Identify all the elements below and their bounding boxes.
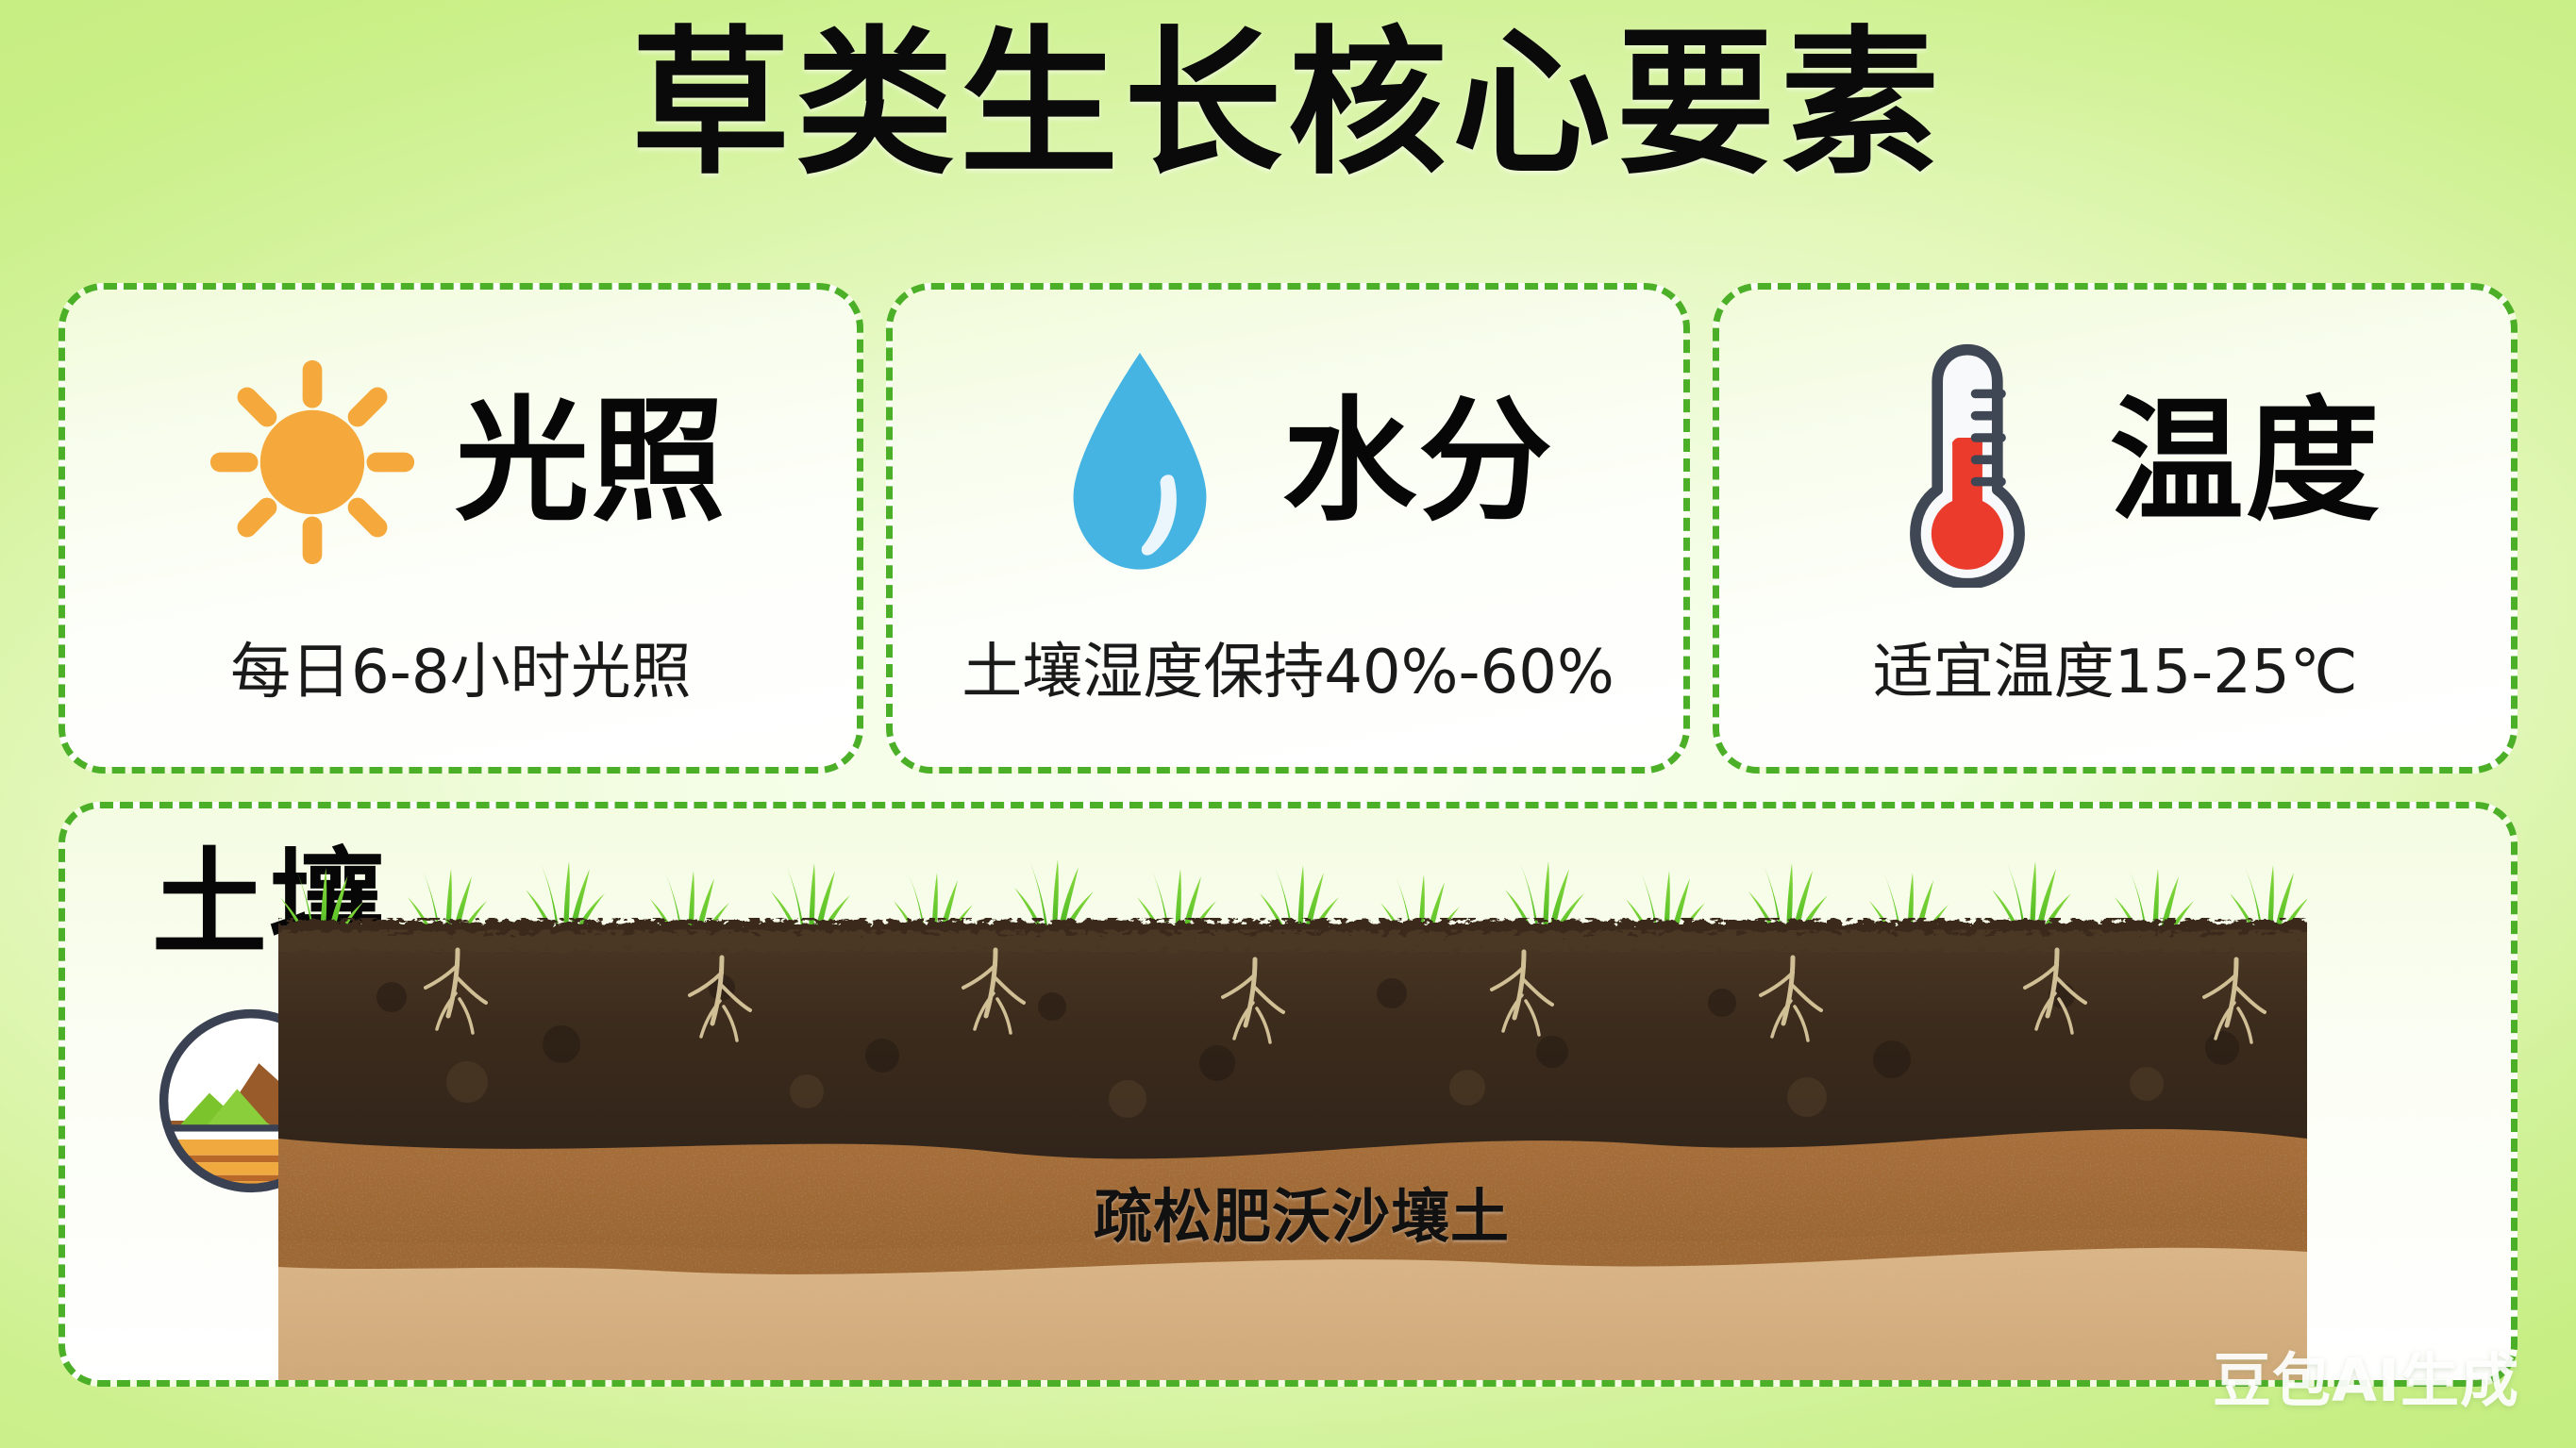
factor-card-temperature[interactable]: 温度 适宜温度15-25℃ (1713, 283, 2517, 774)
card-title-temperature: 温度 (2110, 395, 2382, 529)
card-desc-water: 土壤湿度保持40%-60% (962, 624, 1614, 710)
card-head: 光照 (75, 307, 847, 618)
soil-crosssection-illustration (278, 808, 2307, 1387)
sun-icon (194, 335, 430, 590)
soil-caption: 疏松肥沃沙壤土 (1094, 1169, 1510, 1254)
soil-panel[interactable]: 土壤 (59, 802, 2517, 1387)
card-head: 水分 (902, 307, 1675, 618)
card-head: 温度 (1729, 307, 2501, 618)
factor-cards-row: 光照 每日6-8小时光照 水分 土壤湿度保持40%-60% (59, 283, 2517, 774)
card-desc-temperature: 适宜温度15-25℃ (1873, 624, 2358, 710)
card-desc-light: 每日6-8小时光照 (230, 624, 692, 710)
card-title-water: 水分 (1282, 395, 1554, 529)
card-title-light: 光照 (455, 395, 727, 529)
soil-layer-topsoil (278, 920, 2307, 1158)
thermometer-icon (1849, 335, 2085, 590)
watermark: 豆包AI生成 (2213, 1333, 2519, 1418)
page-title: 草类生长核心要素 (0, 8, 2576, 201)
water-drop-icon (1022, 335, 1258, 590)
factor-card-light[interactable]: 光照 每日6-8小时光照 (59, 283, 863, 774)
factor-card-water[interactable]: 水分 土壤湿度保持40%-60% (886, 283, 1691, 774)
